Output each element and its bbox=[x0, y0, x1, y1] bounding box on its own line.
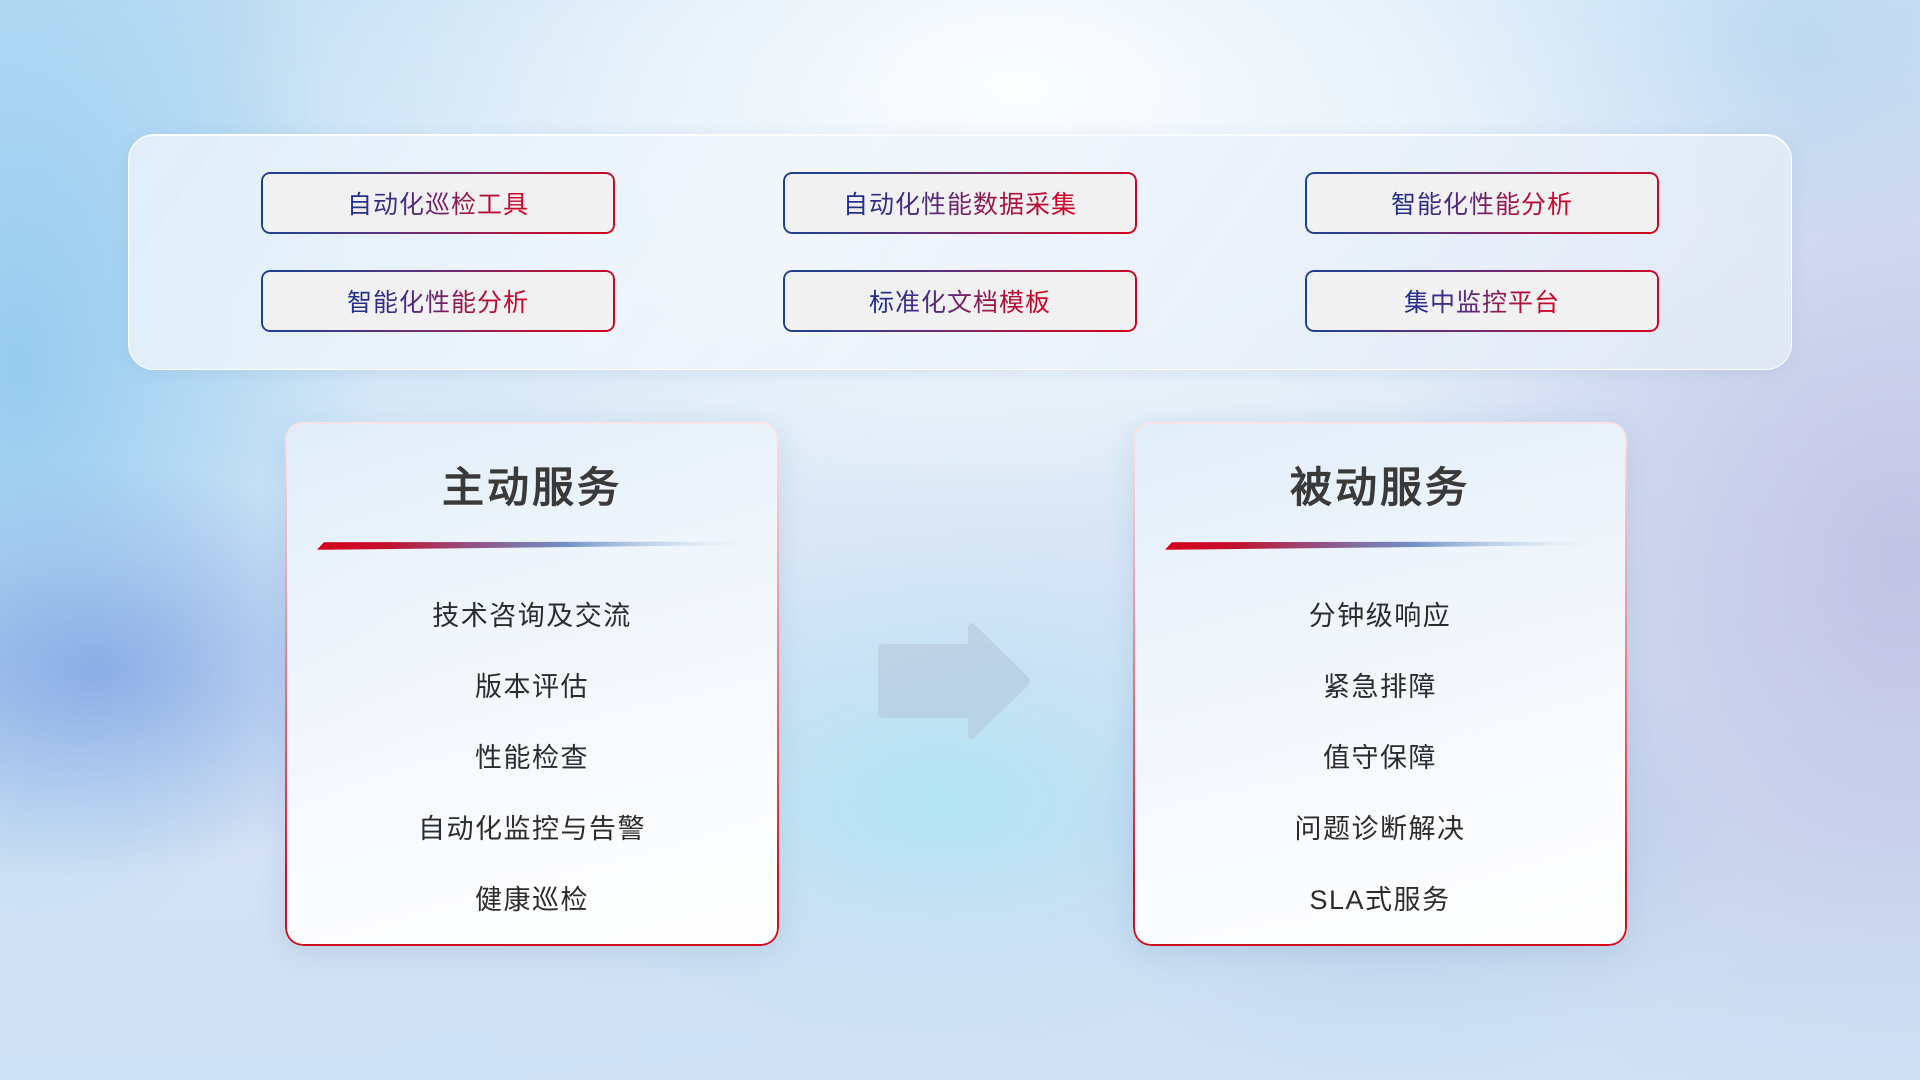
capability-tag[interactable]: 自动化巡检工具 bbox=[261, 172, 615, 234]
capability-tag-label: 集中监控平台 bbox=[1404, 283, 1560, 319]
service-list-item: SLA式服务 bbox=[1133, 862, 1627, 933]
card-title-divider bbox=[1165, 541, 1595, 550]
capability-tag[interactable]: 集中监控平台 bbox=[1305, 270, 1659, 332]
service-list-item: 分钟级响应 bbox=[1133, 578, 1627, 649]
capability-tag-label: 标准化文档模板 bbox=[869, 283, 1051, 319]
capability-tag[interactable]: 智能化性能分析 bbox=[1305, 172, 1659, 234]
service-card-proactive: 主动服务 技术咨询及交流 版本评估 性能检查 bbox=[285, 422, 779, 946]
service-list-item: 技术咨询及交流 bbox=[285, 578, 779, 649]
service-list-item: 自动化监控与告警 bbox=[285, 791, 779, 862]
service-list-item: 紧急排障 bbox=[1133, 649, 1627, 720]
card-title-divider bbox=[317, 541, 747, 550]
service-list-item: 性能检查 bbox=[285, 720, 779, 791]
capability-tag[interactable]: 自动化性能数据采集 bbox=[783, 172, 1137, 234]
flow-arrow-right-icon bbox=[872, 620, 1032, 742]
capability-tag[interactable]: 智能化性能分析 bbox=[261, 270, 615, 332]
capability-tag-label: 智能化性能分析 bbox=[347, 283, 529, 319]
capability-tag[interactable]: 标准化文档模板 bbox=[783, 270, 1137, 332]
capability-tag-label: 自动化性能数据采集 bbox=[843, 185, 1077, 221]
capability-tag-grid: 自动化巡检工具 自动化性能数据采集 智能化性能分析 智能化性能分析 标准化文档模… bbox=[129, 135, 1791, 369]
service-list-item: 健康巡检 bbox=[285, 862, 779, 933]
infographic-stage: 自动化巡检工具 自动化性能数据采集 智能化性能分析 智能化性能分析 标准化文档模… bbox=[0, 0, 1920, 1080]
service-item-list: 技术咨询及交流 版本评估 性能检查 自动化监控与告警 健康巡检 bbox=[285, 550, 779, 933]
capability-tag-label: 自动化巡检工具 bbox=[347, 185, 529, 221]
card-title: 主动服务 bbox=[285, 422, 779, 515]
service-list-item: 值守保障 bbox=[1133, 720, 1627, 791]
service-card-reactive: 被动服务 分钟级响应 紧急排障 值守保障 bbox=[1133, 422, 1627, 946]
capability-tag-label: 智能化性能分析 bbox=[1391, 185, 1573, 221]
service-list-item: 问题诊断解决 bbox=[1133, 791, 1627, 862]
capability-tag-panel: 自动化巡检工具 自动化性能数据采集 智能化性能分析 智能化性能分析 标准化文档模… bbox=[128, 134, 1792, 370]
card-title: 被动服务 bbox=[1133, 422, 1627, 515]
service-list-item: 版本评估 bbox=[285, 649, 779, 720]
service-item-list: 分钟级响应 紧急排障 值守保障 问题诊断解决 SLA式服务 bbox=[1133, 550, 1627, 933]
